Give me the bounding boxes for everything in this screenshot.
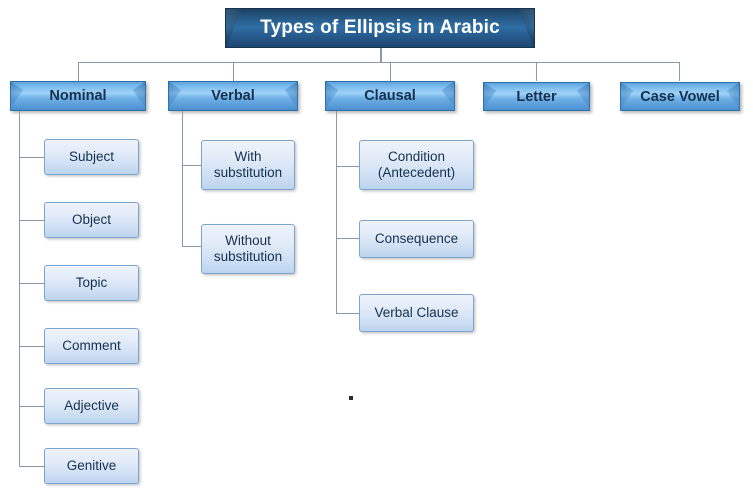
connector-stub-with-substitution — [182, 165, 201, 166]
connector-spine-nominal — [19, 111, 20, 466]
node-leaf-condition-label: Condition(Antecedent) — [378, 149, 455, 180]
node-leaf-condition: Condition(Antecedent) — [359, 140, 474, 190]
connector-spine-clausal — [336, 111, 337, 313]
connector-drop-nominal — [78, 62, 79, 81]
connector-stub-consequence — [336, 238, 359, 239]
node-leaf-adjective-label: Adjective — [64, 398, 119, 414]
connector-level2-bus — [78, 62, 680, 63]
connector-spine-verbal — [182, 111, 183, 246]
node-leaf-verbal-clause: Verbal Clause — [359, 294, 474, 332]
node-leaf-subject: Subject — [44, 139, 139, 175]
connector-stub-verbal-clause — [336, 313, 359, 314]
node-leaf-topic: Topic — [44, 265, 139, 301]
connector-stub-condition — [336, 166, 359, 167]
connector-drop-letter — [536, 62, 537, 81]
node-leaf-adjective: Adjective — [44, 388, 139, 424]
connector-stub-without-substitution — [182, 246, 201, 247]
connector-stub-subject — [19, 157, 44, 158]
connector-stub-genitive — [19, 466, 44, 467]
node-branch-case-vowel: Case Vowel — [620, 82, 740, 111]
connector-stub-object — [19, 220, 44, 221]
node-leaf-with-substitution-label: Withsubstitution — [214, 149, 282, 180]
node-branch-clausal-label: Clausal — [364, 88, 416, 104]
connector-stub-adjective — [19, 406, 44, 407]
connector-drop-clausal — [390, 62, 391, 81]
diagram-canvas: Types of Ellipsis in Arabic Nominal Verb… — [0, 0, 753, 491]
node-branch-verbal: Verbal — [168, 81, 298, 111]
node-leaf-topic-label: Topic — [76, 275, 108, 291]
node-branch-case-vowel-label: Case Vowel — [640, 89, 720, 105]
node-leaf-with-substitution: Withsubstitution — [201, 140, 295, 190]
node-leaf-comment-label: Comment — [62, 338, 121, 354]
node-leaf-object-label: Object — [72, 212, 111, 228]
connector-drop-verbal — [233, 62, 234, 81]
stray-mark-dot — [349, 396, 353, 400]
node-branch-nominal-label: Nominal — [49, 88, 106, 104]
node-branch-verbal-label: Verbal — [211, 88, 255, 104]
connector-stub-topic — [19, 283, 44, 284]
node-leaf-genitive: Genitive — [44, 448, 139, 484]
node-leaf-object: Object — [44, 202, 139, 238]
node-leaf-genitive-label: Genitive — [67, 458, 117, 474]
node-leaf-without-substitution: Withoutsubstitution — [201, 224, 295, 274]
node-leaf-without-substitution-label: Withoutsubstitution — [214, 233, 282, 264]
node-leaf-verbal-clause-label: Verbal Clause — [374, 305, 458, 321]
node-leaf-comment: Comment — [44, 328, 139, 364]
node-branch-letter-label: Letter — [516, 89, 556, 105]
node-branch-letter: Letter — [483, 82, 590, 111]
node-branch-nominal: Nominal — [10, 81, 146, 111]
connector-stub-comment — [19, 346, 44, 347]
node-title: Types of Ellipsis in Arabic — [225, 8, 535, 48]
node-leaf-consequence-label: Consequence — [375, 231, 458, 247]
connector-title-drop — [380, 48, 382, 62]
node-branch-clausal: Clausal — [325, 81, 455, 111]
node-title-label: Types of Ellipsis in Arabic — [260, 17, 500, 39]
node-leaf-consequence: Consequence — [359, 220, 474, 258]
connector-drop-case-vowel — [679, 62, 680, 81]
node-leaf-subject-label: Subject — [69, 149, 114, 165]
